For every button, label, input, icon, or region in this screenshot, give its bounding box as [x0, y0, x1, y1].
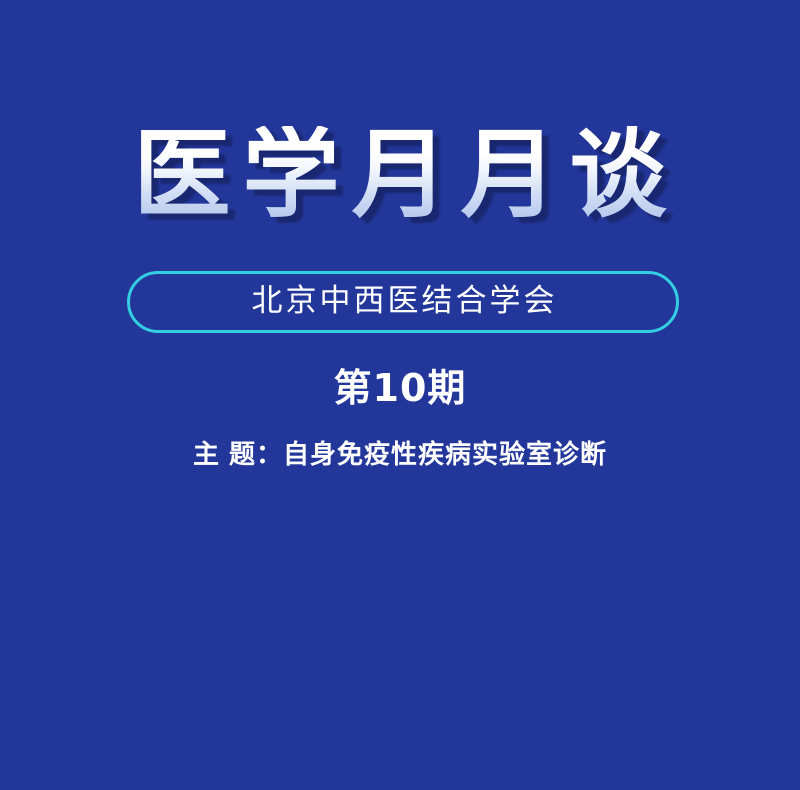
issue-number: 第10期 [0, 368, 800, 410]
organization-pill: 北京中西医结合学会 [127, 271, 679, 333]
main-title-text: 医学月月谈 [0, 126, 800, 223]
topic-value: 自身免疫性疾病实验室诊断 [283, 440, 607, 470]
main-title: 医学月月谈 医学月月谈 [0, 126, 800, 223]
organization-name: 北京中西医结合学会 [249, 286, 558, 319]
topic-line: 主题：自身免疫性疾病实验室诊断 [0, 440, 800, 471]
poster-canvas: 医学月月谈 医学月月谈 北京中西医结合学会 第10期 主题：自身免疫性疾病实验室… [0, 0, 800, 790]
topic-prefix: 主 [193, 440, 220, 470]
topic-prefix-tail: 题： [229, 440, 283, 470]
